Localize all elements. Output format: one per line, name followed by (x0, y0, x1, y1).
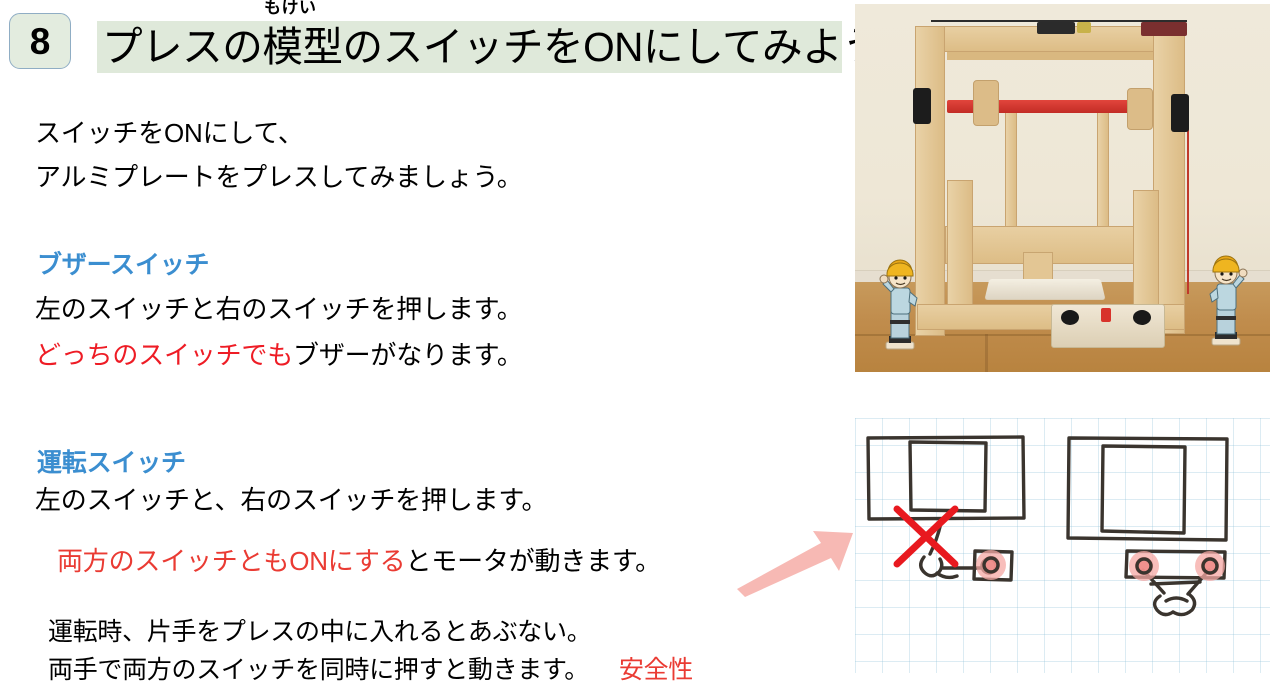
title-ruby-text: もけい (264, 0, 317, 18)
body-column: スイッチをONにして、 アルミプレートをプレスしてみましょう。 ブザースイッチ … (0, 96, 860, 688)
photo-switch-left (1061, 310, 1079, 325)
photo-motor-right (1171, 94, 1189, 132)
photo-indicator-lamp (1101, 308, 1111, 322)
photo-mid-column-left (1005, 104, 1017, 234)
pointer-arrow-container (735, 527, 855, 597)
photo-shaft-block-right (1127, 88, 1153, 130)
buzzer-line-2: どっちのスイッチでもブザーがなります。 (35, 342, 523, 368)
section-heading-operation: 運転スイッチ (37, 451, 186, 476)
hand-operation-sketch (855, 418, 1270, 673)
note-line-1: 運転時、片手をプレスの中に入れるとあぶない。 (48, 620, 591, 645)
safety-label: 安全性 (619, 656, 693, 684)
photo-inner-top-rail (947, 52, 1153, 60)
page-title: プレスの模型のスイッチをONにしてみよう (97, 27, 882, 68)
buzzer-line-2-emphasis: どっちのスイッチでも (35, 340, 293, 370)
intro-line-2: アルミプレートをプレスしてみましょう。 (35, 164, 523, 190)
photo-shaft-block-left (973, 80, 999, 126)
sketch-button-left (976, 550, 1006, 580)
sketch-drawing (855, 418, 1270, 673)
press-model-photo (855, 4, 1270, 372)
operation-line-2-rest: とモータが動きます。 (405, 546, 660, 576)
operation-line-2: 両方のスイッチともONにするとモータが動きます。 (57, 548, 661, 574)
note-line-2: 両手で両方のスイッチを同時に押すと動きます。安全性 (48, 658, 693, 683)
buzzer-line-1: 左のスイッチと右のスイッチを押します。 (35, 296, 523, 322)
note-line-2-text: 両手で両方のスイッチを同時に押すと動きます。 (48, 656, 589, 684)
intro-line-1: スイッチをONにして、 (35, 120, 304, 146)
operation-line-1: 左のスイッチと、右のスイッチを押します。 (35, 487, 547, 513)
photo-mid-column-right (1097, 104, 1109, 234)
section-heading-buzzer: ブザースイッチ (37, 253, 209, 278)
photo-floor-seam-2 (985, 334, 988, 372)
slide-number-badge: 8 (9, 13, 71, 69)
slide-header: 8 もけい プレスの模型のスイッチをONにしてみよう (0, 0, 860, 96)
pink-arrow-icon (735, 527, 855, 597)
photo-aluminium-plate (984, 279, 1105, 300)
title-banner: プレスの模型のスイッチをONにしてみよう (97, 21, 842, 73)
photo-motor-left (913, 88, 931, 124)
photo-wire-right-red (1187, 124, 1189, 294)
worker-figure-right (1203, 254, 1249, 346)
operation-line-2-emphasis: 両方のスイッチともONにする (57, 546, 405, 576)
worker-figure-left (877, 258, 923, 350)
photo-battery-terminal (1077, 22, 1091, 33)
slide-number: 8 (30, 23, 51, 60)
photo-circuit-board (1141, 22, 1187, 36)
buzzer-line-2-rest: ブザーがなります。 (293, 340, 523, 370)
photo-switch-right (1133, 310, 1151, 325)
photo-battery-box (1037, 22, 1075, 34)
